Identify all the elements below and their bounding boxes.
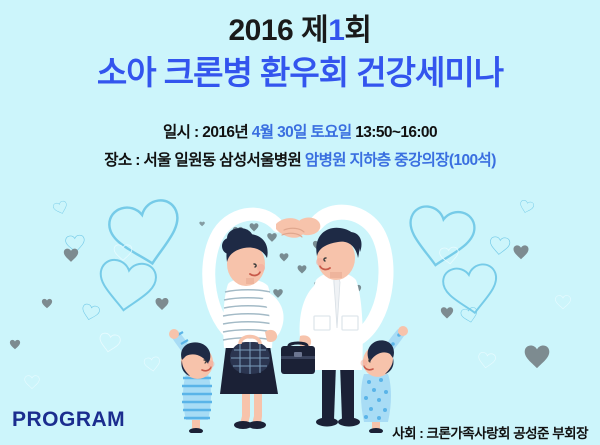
program-heading: PROGRAM xyxy=(12,408,125,432)
poster-title-block: 2016 제1회 소아 크론병 환우회 건강세미나 xyxy=(0,16,600,89)
woman-figure xyxy=(220,228,284,429)
title-line-2: 소아 크론병 환우회 건강세미나 xyxy=(0,56,600,89)
place-accent: 암병원 지하층 중강의장(100석) xyxy=(305,152,496,169)
event-place-line: 장소 : 서울 일원동 삼성서울병원 암병원 지하층 중강의장(100석) xyxy=(0,153,600,169)
title-line-1: 2016 제1회 xyxy=(0,16,600,46)
seminar-poster: 2016 제1회 소아 크론병 환우회 건강세미나 일시 : 2016년 4월 … xyxy=(0,0,600,445)
doctor-figure xyxy=(281,228,363,427)
title-ordinal-suffix: 회 xyxy=(344,14,371,47)
place-label: 장소 : 서울 일원동 삼성서울병원 xyxy=(104,152,305,169)
clasped-hands xyxy=(276,217,320,237)
date-label: 일시 : 2016년 xyxy=(163,124,252,141)
event-info-block: 일시 : 2016년 4월 30일 토요일 13:50~16:00 장소 : 서… xyxy=(0,125,600,168)
event-date-line: 일시 : 2016년 4월 30일 토요일 13:50~16:00 xyxy=(0,125,600,141)
date-accent: 4월 30일 토요일 xyxy=(252,124,352,141)
inner-hearts xyxy=(199,222,204,227)
title-year-prefix: 2016 제 xyxy=(229,14,329,47)
title-ordinal-accent: 1 xyxy=(328,14,344,47)
date-time: 13:50~16:00 xyxy=(352,124,437,141)
child-left-figure xyxy=(169,329,218,433)
family-illustration xyxy=(150,188,450,433)
child-right-figure xyxy=(358,326,408,433)
host-credit: 사회 : 크론가족사랑회 공성준 부회장 xyxy=(392,422,588,442)
briefcase xyxy=(281,343,315,374)
